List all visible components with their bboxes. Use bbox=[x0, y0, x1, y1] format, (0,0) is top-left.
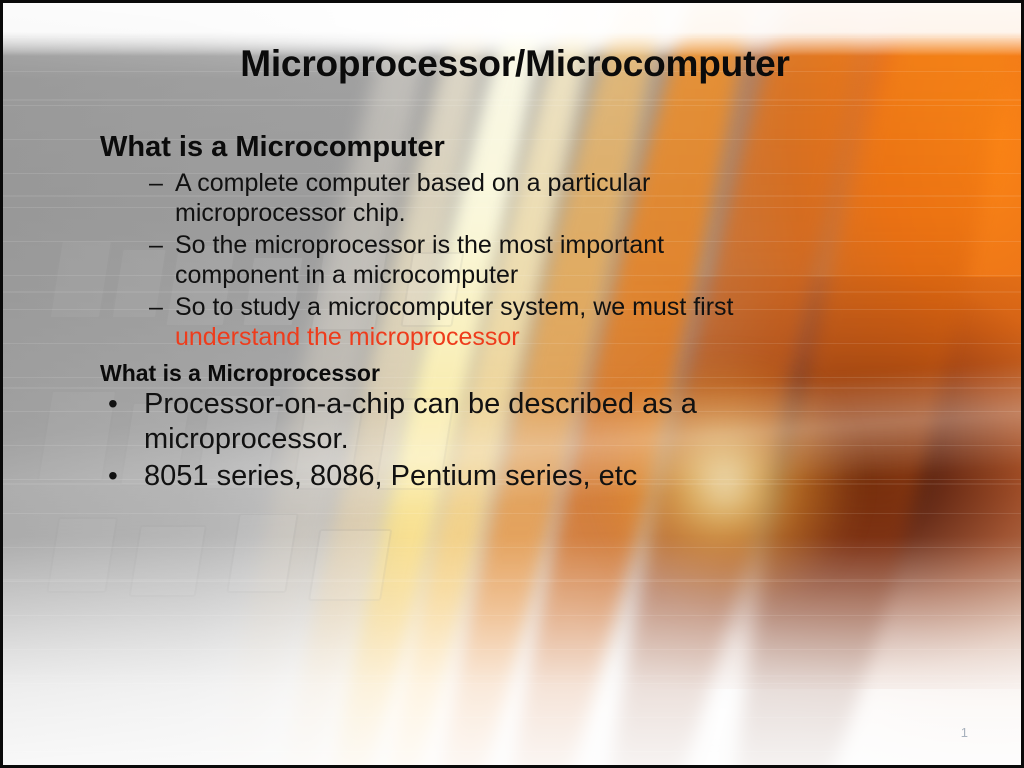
dash-bullet-text: So the microprocessor is the most import… bbox=[175, 230, 785, 291]
list-item: • Processor-on-a-chip can be described a… bbox=[100, 387, 930, 457]
dash-bullet-marker: – bbox=[149, 230, 175, 261]
list-item: – So the microprocessor is the most impo… bbox=[100, 230, 930, 291]
dash-bullet-text-plain: So to study a microcomputer system, we m… bbox=[175, 293, 734, 321]
slide-content: Microprocessor/Microcomputer What is a M… bbox=[3, 3, 1021, 765]
round-bullet-text: Processor-on-a-chip can be described as … bbox=[144, 387, 844, 457]
highlighted-phrase: understand the microprocessor bbox=[175, 323, 520, 351]
dash-bullet-text: So to study a microcomputer system, we m… bbox=[175, 292, 785, 353]
list-item: • 8051 series, 8086, Pentium series, etc bbox=[100, 459, 930, 494]
round-bullet-marker: • bbox=[108, 387, 144, 421]
round-bullet-text: 8051 series, 8086, Pentium series, etc bbox=[144, 459, 844, 494]
page-number: 1 bbox=[961, 725, 968, 740]
presentation-slide: Microprocessor/Microcomputer What is a M… bbox=[0, 0, 1024, 768]
dash-bullet-marker: – bbox=[149, 168, 175, 199]
slide-body: What is a Microcomputer – A complete com… bbox=[100, 131, 930, 496]
slide-title: Microprocessor/Microcomputer bbox=[3, 43, 1024, 85]
list-item: – A complete computer based on a particu… bbox=[100, 168, 930, 229]
section-heading-microprocessor: What is a Microprocessor bbox=[100, 360, 930, 387]
section-heading-microcomputer: What is a Microcomputer bbox=[100, 131, 930, 165]
dash-bullet-text: A complete computer based on a particula… bbox=[175, 168, 785, 229]
dash-bullet-marker: – bbox=[149, 292, 175, 323]
list-item: – So to study a microcomputer system, we… bbox=[100, 292, 930, 353]
round-bullet-marker: • bbox=[108, 459, 144, 493]
